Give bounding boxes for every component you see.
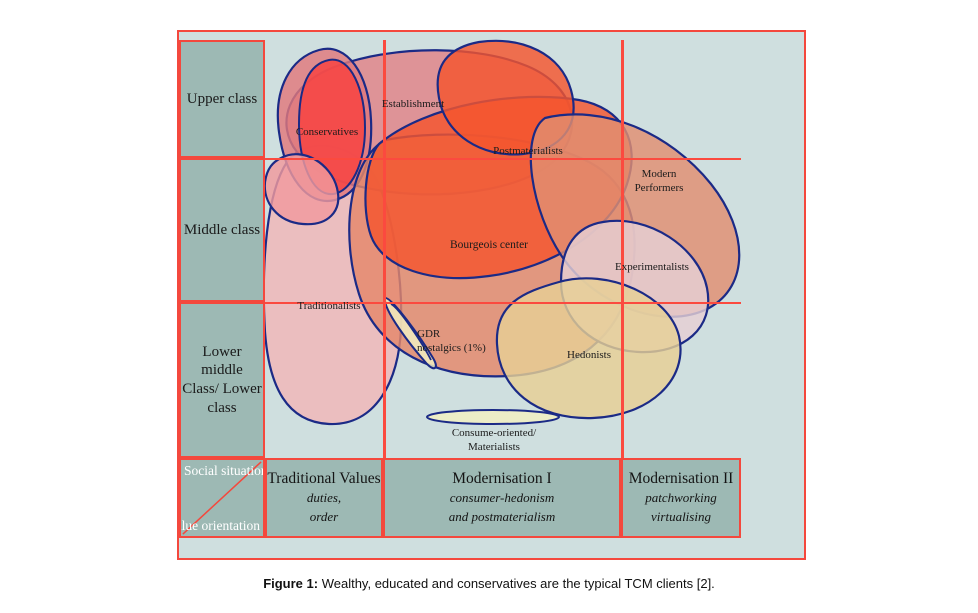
axis-cell-upper-class: Upper class xyxy=(179,40,265,158)
diagram-frame: Upper class Middle class Lower middle Cl… xyxy=(177,30,806,560)
gridline-vertical-1 xyxy=(383,40,386,458)
figure-caption-prefix: Figure 1: xyxy=(263,576,318,591)
axis-cell-modernisation-2: Modernisation II patchworking virtualisi… xyxy=(621,458,741,538)
traditional-values-title: Traditional Values xyxy=(267,469,380,489)
modernisation-1-sub1: consumer-hedonism xyxy=(450,489,554,508)
axis-corner-cell: Social situation Value orientation xyxy=(179,458,265,538)
axis-label-upper-class: Upper class xyxy=(187,90,257,109)
axis-cell-lower-class: Lower middle Class/ Lower class xyxy=(179,302,265,458)
axis-label-middle-class: Middle class xyxy=(184,221,260,240)
bubble-hedonists[interactable] xyxy=(497,278,681,418)
modernisation-2-sub1: patchworking xyxy=(645,489,717,508)
figure-container: Upper class Middle class Lower middle Cl… xyxy=(0,0,978,613)
axis-cell-middle-class: Middle class xyxy=(179,158,265,302)
axis-cell-traditional-values: Traditional Values duties, order xyxy=(265,458,383,538)
figure-caption-text: Wealthy, educated and conservatives are … xyxy=(318,576,715,591)
modernisation-2-title: Modernisation II xyxy=(629,469,734,489)
traditional-values-sub1: duties, xyxy=(307,489,341,508)
axis-cell-modernisation-1: Modernisation I consumer-hedonism and po… xyxy=(383,458,621,538)
x-axis-title: Value orientation xyxy=(179,518,260,534)
traditional-values-sub2: order xyxy=(310,508,338,527)
y-axis-title-text: Social situation xyxy=(184,463,265,478)
bubble-consume-oriented[interactable] xyxy=(427,410,559,424)
figure-caption: Figure 1: Wealthy, educated and conserva… xyxy=(0,576,978,591)
modernisation-2-sub2: virtualising xyxy=(651,508,711,527)
gridline-vertical-2 xyxy=(621,40,624,458)
y-axis-title: Social situation xyxy=(184,463,265,479)
modernisation-1-title: Modernisation I xyxy=(452,469,551,489)
modernisation-1-sub2: and postmaterialism xyxy=(449,508,556,527)
axis-label-lower-class: Lower middle Class/ Lower class xyxy=(181,343,263,418)
x-axis-title-text: Value orientation xyxy=(179,518,260,533)
